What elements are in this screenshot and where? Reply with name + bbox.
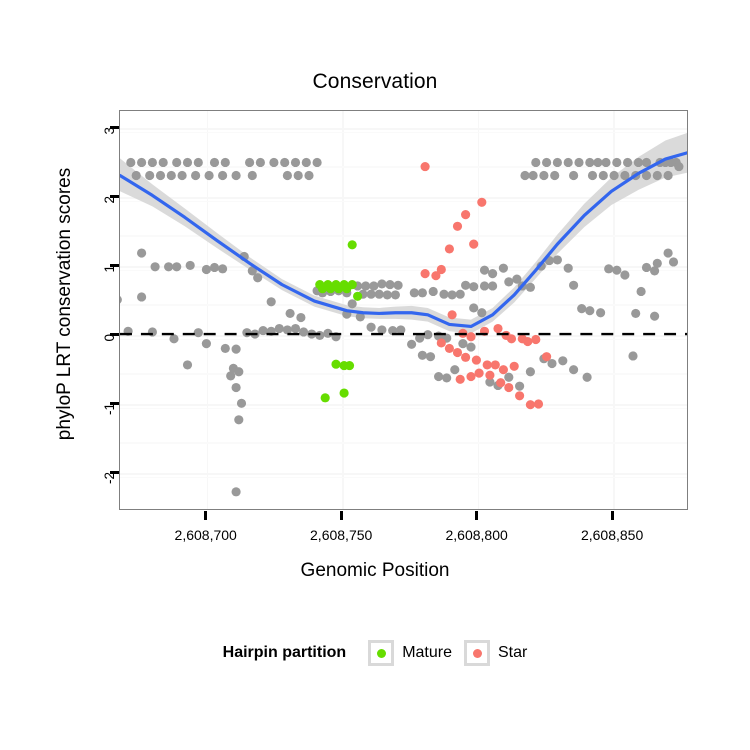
star-dot-icon — [473, 649, 482, 658]
data-point — [407, 340, 416, 349]
data-point — [642, 263, 651, 272]
legend-item-star[interactable]: Star — [464, 640, 527, 666]
data-point — [245, 158, 254, 167]
y-tick-label: -2 — [102, 472, 118, 498]
legend: Hairpin partition Mature Star — [0, 640, 750, 666]
x-tick-label: 2,608,700 — [146, 527, 266, 543]
data-point — [283, 171, 292, 180]
data-point — [299, 327, 308, 336]
data-point — [593, 158, 602, 167]
data-point — [601, 158, 610, 167]
data-point — [367, 323, 376, 332]
data-point — [496, 378, 505, 387]
data-point — [291, 324, 300, 333]
data-point — [137, 248, 146, 257]
data-point — [453, 222, 462, 231]
y-tick-label: 2 — [102, 196, 118, 222]
data-point — [302, 158, 311, 167]
data-point — [304, 171, 313, 180]
data-point — [210, 263, 219, 272]
data-point — [426, 352, 435, 361]
data-point — [488, 269, 497, 278]
data-point — [280, 158, 289, 167]
data-point — [167, 171, 176, 180]
data-point — [564, 158, 573, 167]
data-point — [367, 290, 376, 299]
data-point — [172, 262, 181, 271]
data-point — [137, 158, 146, 167]
data-point — [234, 415, 243, 424]
data-point — [221, 158, 230, 167]
data-point — [577, 304, 586, 313]
data-point — [164, 262, 173, 271]
data-point — [574, 158, 583, 167]
data-point — [477, 308, 486, 317]
data-point — [456, 290, 465, 299]
data-point — [394, 281, 403, 290]
y-tick-label-wrap: 3 — [84, 119, 110, 135]
data-point — [431, 271, 440, 280]
data-point — [120, 295, 122, 304]
data-point — [232, 383, 241, 392]
data-point — [259, 326, 268, 335]
data-point — [448, 310, 457, 319]
data-point — [132, 171, 141, 180]
data-point — [418, 351, 427, 360]
data-point — [418, 288, 427, 297]
data-point — [466, 332, 475, 341]
legend-item-mature[interactable]: Mature — [368, 640, 452, 666]
data-point — [448, 290, 457, 299]
data-point — [159, 158, 168, 167]
data-point — [599, 171, 608, 180]
data-point — [248, 171, 257, 180]
x-tick-mark — [340, 511, 343, 520]
data-point — [410, 288, 419, 297]
data-point — [202, 339, 211, 348]
plot-panel — [119, 110, 688, 510]
data-point — [294, 171, 303, 180]
data-point — [620, 270, 629, 279]
x-tick-label: 2,608,750 — [281, 527, 401, 543]
data-point — [218, 264, 227, 273]
data-point — [531, 335, 540, 344]
data-point — [348, 299, 357, 308]
data-point — [186, 261, 195, 270]
data-point — [674, 162, 683, 171]
data-point — [558, 356, 567, 365]
data-point — [205, 171, 214, 180]
data-point — [232, 171, 241, 180]
data-point — [469, 240, 478, 249]
chart-root: Conservation -2-10123 2,608,7002,608,750… — [0, 0, 750, 750]
data-point — [488, 281, 497, 290]
data-point — [458, 339, 467, 348]
data-point — [296, 313, 305, 322]
data-point — [461, 353, 470, 362]
data-point — [369, 281, 378, 290]
data-point — [529, 171, 538, 180]
data-point — [564, 264, 573, 273]
x-tick-mark — [475, 511, 478, 520]
data-point — [172, 158, 181, 167]
legend-key-mature — [368, 640, 394, 666]
data-point — [375, 290, 384, 299]
data-point — [596, 308, 605, 317]
data-point — [485, 371, 494, 380]
y-tick-label-wrap: 2 — [84, 188, 110, 204]
data-point — [237, 399, 246, 408]
data-point — [539, 171, 548, 180]
data-point — [569, 171, 578, 180]
data-point — [664, 171, 673, 180]
data-point — [550, 171, 559, 180]
data-point — [445, 344, 454, 353]
data-point — [334, 284, 343, 293]
data-point — [569, 281, 578, 290]
data-point — [340, 388, 349, 397]
y-tick-label-wrap: -1 — [84, 395, 110, 411]
data-point — [637, 287, 646, 296]
data-point — [156, 171, 165, 180]
data-point — [569, 365, 578, 374]
data-point — [526, 400, 535, 409]
data-point — [232, 487, 241, 496]
data-point — [226, 371, 235, 380]
y-tick-label-wrap: -2 — [84, 464, 110, 480]
data-point — [256, 158, 265, 167]
y-axis-title: phyloP LRT conservation scores — [54, 94, 76, 514]
data-point — [480, 281, 489, 290]
x-axis-title: Genomic Position — [0, 560, 750, 582]
data-point — [466, 342, 475, 351]
data-point — [583, 373, 592, 382]
data-point — [267, 297, 276, 306]
data-point — [331, 360, 340, 369]
data-point — [483, 360, 492, 369]
data-point — [623, 158, 632, 167]
data-point — [269, 158, 278, 167]
legend-key-star — [464, 640, 490, 666]
data-point — [234, 367, 243, 376]
data-point — [137, 292, 146, 301]
data-point — [610, 171, 619, 180]
data-point — [221, 344, 230, 353]
data-point — [477, 198, 486, 207]
y-tick-label-wrap: 0 — [84, 326, 110, 342]
data-point — [526, 283, 535, 292]
x-tick-mark — [204, 511, 207, 520]
data-point — [510, 362, 519, 371]
data-point — [504, 277, 513, 286]
data-point — [391, 290, 400, 299]
data-point — [604, 264, 613, 273]
data-point — [585, 158, 594, 167]
data-point — [515, 391, 524, 400]
data-point — [194, 158, 203, 167]
data-point — [504, 373, 513, 382]
data-point — [429, 287, 438, 296]
data-point — [469, 303, 478, 312]
data-point — [466, 372, 475, 381]
x-tick-mark — [611, 511, 614, 520]
data-point — [361, 281, 370, 290]
data-point — [507, 334, 516, 343]
data-point — [456, 375, 465, 384]
data-point — [542, 352, 551, 361]
data-point — [480, 266, 489, 275]
data-point — [313, 158, 322, 167]
data-point — [218, 171, 227, 180]
data-point — [523, 337, 532, 346]
data-point — [453, 348, 462, 357]
data-point — [493, 324, 502, 333]
data-point — [232, 345, 241, 354]
legend-title: Hairpin partition — [223, 644, 347, 662]
data-point — [442, 373, 451, 382]
data-point — [202, 265, 211, 274]
data-point — [515, 382, 524, 391]
data-point — [421, 162, 430, 171]
data-point — [653, 171, 662, 180]
data-point — [377, 279, 386, 288]
data-point — [650, 312, 659, 321]
x-tick-label: 2,608,800 — [417, 527, 537, 543]
data-point — [631, 309, 640, 318]
data-point — [191, 171, 200, 180]
series-mature — [315, 240, 362, 402]
data-point — [326, 284, 335, 293]
data-point — [628, 351, 637, 360]
data-point — [291, 158, 300, 167]
data-point — [151, 262, 160, 271]
data-point — [183, 360, 192, 369]
data-point — [445, 244, 454, 253]
data-point — [588, 171, 597, 180]
data-point — [504, 383, 513, 392]
data-point — [612, 158, 621, 167]
data-point — [178, 171, 187, 180]
data-point — [461, 210, 470, 219]
data-point — [669, 257, 678, 266]
data-point — [385, 280, 394, 289]
data-point — [242, 328, 251, 337]
data-point — [461, 281, 470, 290]
data-point — [499, 264, 508, 273]
data-point — [531, 158, 540, 167]
data-point — [126, 158, 135, 167]
data-point — [342, 284, 351, 293]
data-point — [148, 158, 157, 167]
data-point — [437, 338, 446, 347]
page-title: Conservation — [0, 70, 750, 94]
data-point — [634, 158, 643, 167]
data-point — [315, 331, 324, 340]
y-tick-label: 0 — [102, 334, 118, 360]
data-point — [439, 290, 448, 299]
y-tick-label: 1 — [102, 265, 118, 291]
legend-label-mature: Mature — [402, 644, 452, 662]
data-point — [194, 328, 203, 337]
data-point — [421, 269, 430, 278]
y-tick-label: 3 — [102, 127, 118, 153]
data-point — [145, 171, 154, 180]
data-point — [275, 324, 284, 333]
data-point — [542, 158, 551, 167]
data-point — [169, 334, 178, 343]
data-point — [520, 171, 529, 180]
data-point — [348, 240, 357, 249]
data-point — [534, 399, 543, 408]
data-point — [664, 248, 673, 257]
data-point — [472, 356, 481, 365]
data-point — [553, 255, 562, 264]
data-point — [499, 365, 508, 374]
data-point — [585, 306, 594, 315]
data-point — [526, 367, 535, 376]
y-tick-label: -1 — [102, 403, 118, 429]
data-point — [434, 372, 443, 381]
data-point — [553, 158, 562, 167]
data-point — [353, 292, 362, 301]
data-point — [653, 259, 662, 268]
data-point — [210, 158, 219, 167]
mature-dot-icon — [377, 649, 386, 658]
data-point — [491, 360, 500, 369]
data-point — [475, 369, 484, 378]
data-point — [286, 309, 295, 318]
data-point — [253, 273, 262, 282]
data-point — [612, 266, 621, 275]
data-point — [183, 158, 192, 167]
data-point — [321, 393, 330, 402]
data-point — [383, 290, 392, 299]
data-point — [318, 284, 327, 293]
x-tick-label: 2,608,850 — [552, 527, 672, 543]
y-tick-label-wrap: 1 — [84, 257, 110, 273]
data-point — [450, 365, 459, 374]
data-point — [345, 361, 354, 370]
legend-label-star: Star — [498, 644, 527, 662]
data-point — [469, 282, 478, 291]
plot-canvas — [120, 111, 687, 509]
